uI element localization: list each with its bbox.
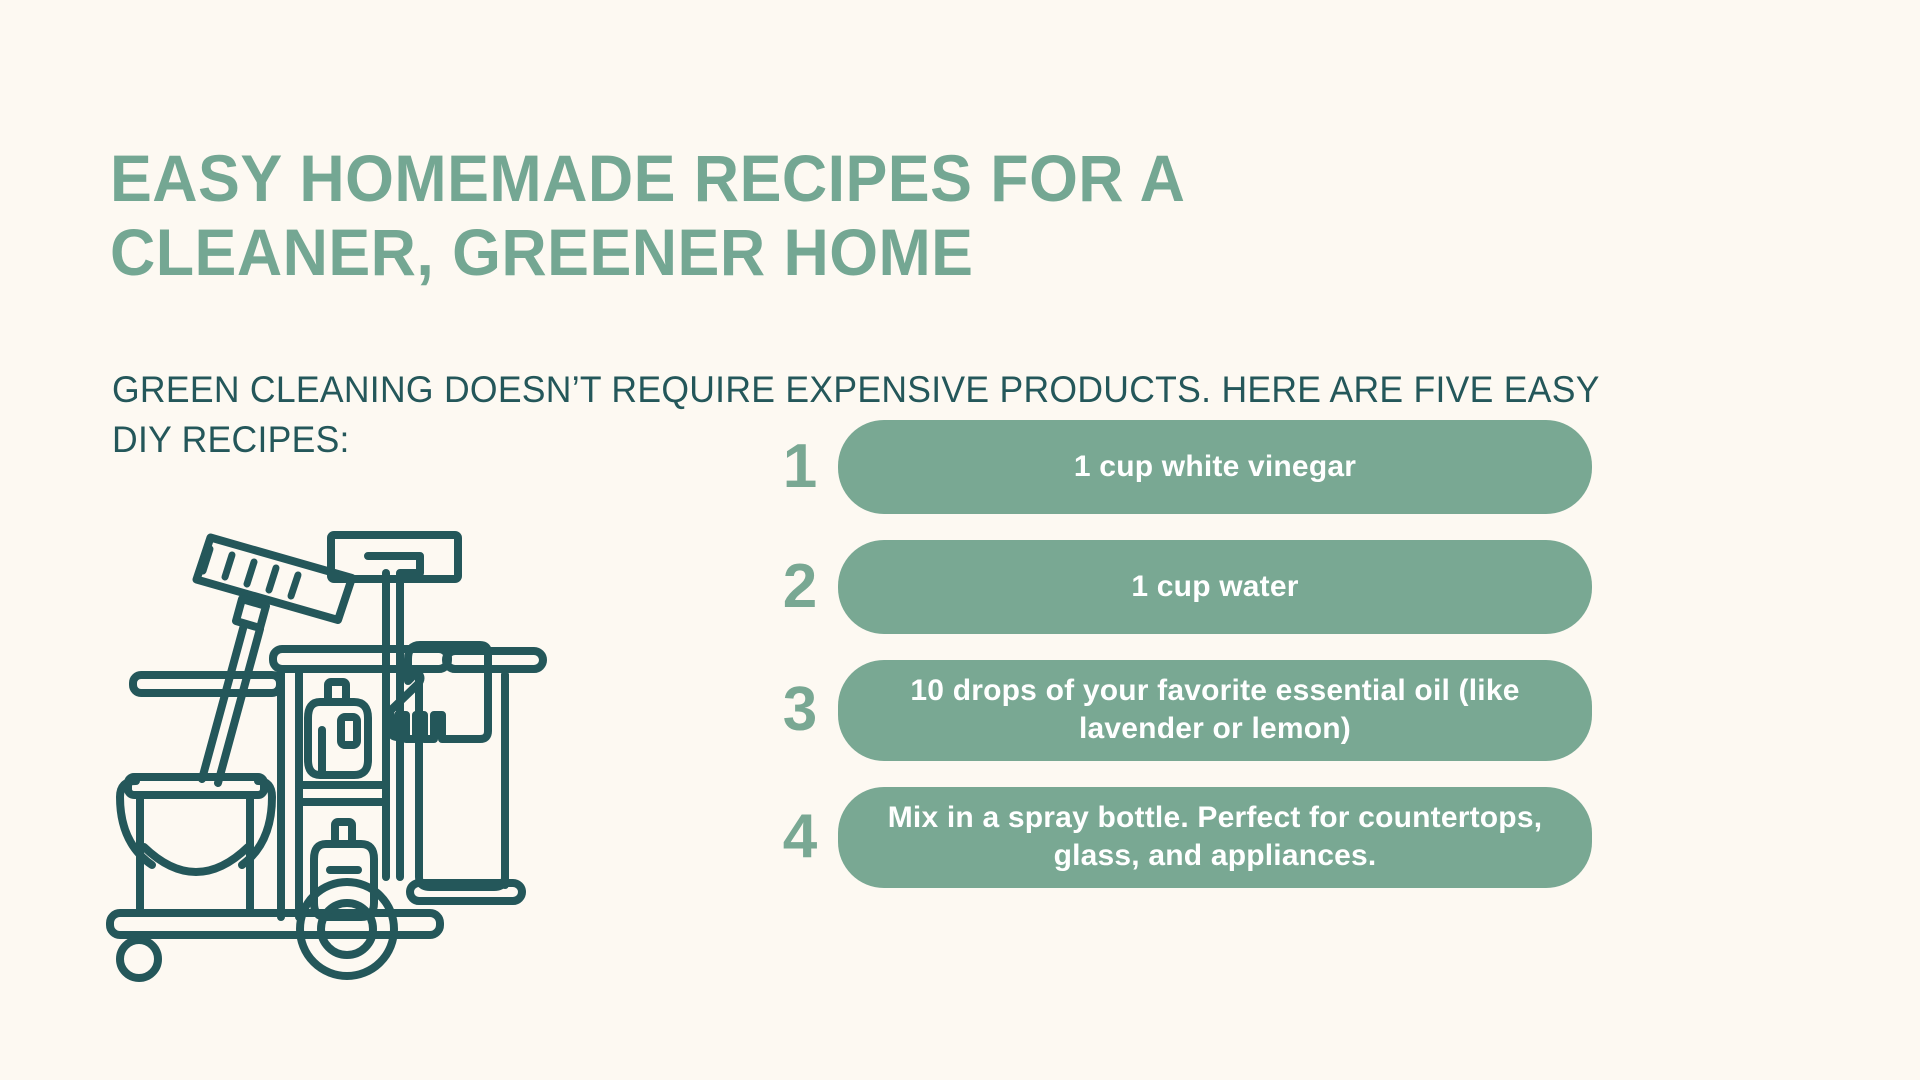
cart-right-rail [446,651,543,669]
bucket-icon [120,777,272,913]
recipe-pill-1: 1 cup white vinegar [838,420,1592,514]
trash-bag [419,675,505,887]
slide-root: EASY HOMEMADE RECIPES FOR A CLEANER, GRE… [0,0,1920,1080]
recipe-item-1: 1 1 cup white vinegar [762,420,1592,514]
recipe-pill-4: Mix in a spray bottle. Perfect for count… [838,787,1592,888]
spray-bottle-upper [308,682,368,775]
cart-upper-shelf [133,675,280,693]
recipe-number-3: 3 [762,679,838,741]
recipe-number-2: 2 [762,556,838,618]
recipe-item-2: 2 1 cup water [762,540,1592,634]
recipe-number-1: 1 [762,436,838,498]
recipe-pill-2: 1 cup water [838,540,1592,634]
recipe-list: 1 1 cup white vinegar 2 1 cup water 3 10… [762,420,1592,888]
cart-lower-right-rail [410,883,522,901]
recipe-text-3: 10 drops of your favorite essential oil … [864,672,1566,749]
recipe-text-4: Mix in a spray bottle. Perfect for count… [864,799,1566,876]
recipe-text-2: 1 cup water [1131,568,1298,606]
recipe-pill-3: 10 drops of your favorite essential oil … [838,660,1592,761]
recipe-item-4: 4 Mix in a spray bottle. Perfect for cou… [762,787,1592,888]
wheel-small [120,940,158,978]
wheel-large [300,882,394,976]
recipe-text-1: 1 cup white vinegar [1074,448,1356,486]
glove-icon [390,645,488,739]
recipe-item-3: 3 10 drops of your favorite essential oi… [762,660,1592,761]
cleaning-cart-illustration [90,525,560,985]
recipe-number-4: 4 [762,806,838,868]
page-title: EASY HOMEMADE RECIPES FOR A CLEANER, GRE… [110,142,1440,290]
